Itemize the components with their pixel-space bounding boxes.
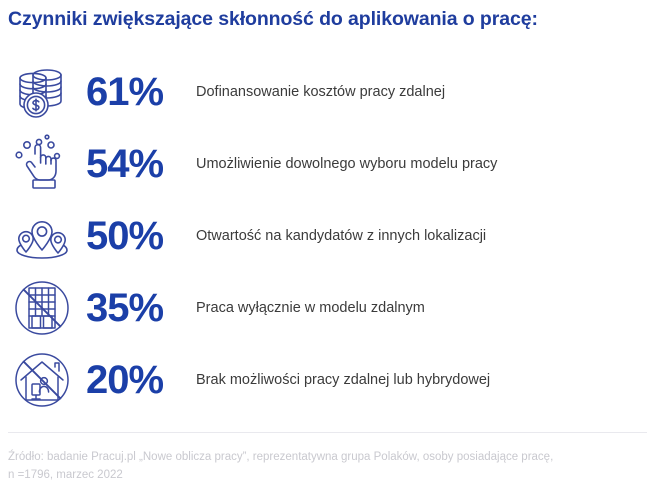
infographic-root: Czynniki zwiększające skłonność do aplik… xyxy=(0,0,655,499)
no-home-office-icon xyxy=(0,344,84,416)
source-line-2: n =1796, marzec 2022 xyxy=(8,467,653,485)
factor-label: Dofinansowanie kosztów pracy zdalnej xyxy=(196,83,655,101)
list-item: 61% Dofinansowanie kosztów pracy zdalnej xyxy=(0,56,655,128)
percent-value: 50% xyxy=(84,216,196,256)
coins-stack-icon xyxy=(0,56,84,128)
percent-value: 20% xyxy=(84,360,196,400)
map-pins-icon xyxy=(0,200,84,272)
page-title: Czynniki zwiększające skłonność do aplik… xyxy=(8,8,648,31)
list-item: 54% Umożliwienie dowolnego wyboru modelu… xyxy=(0,128,655,200)
source-note: Źródło: badanie Pracuj.pl „Nowe oblicza … xyxy=(8,449,653,485)
factor-label: Praca wyłącznie w modelu zdalnym xyxy=(196,299,655,317)
list-item: 20% Brak możliwości pracy zdalnej lub hy… xyxy=(0,344,655,416)
percent-value: 54% xyxy=(84,144,196,184)
footer-divider xyxy=(8,432,647,433)
factor-label: Otwartość na kandydatów z innych lokaliz… xyxy=(196,227,655,245)
factors-list: 61% Dofinansowanie kosztów pracy zdalnej xyxy=(0,56,655,416)
factor-label: Umożliwienie dowolnego wyboru modelu pra… xyxy=(196,155,655,173)
source-line-1: Źródło: badanie Pracuj.pl „Nowe oblicza … xyxy=(8,451,553,463)
percent-value: 61% xyxy=(84,72,196,112)
list-item: 50% Otwartość na kandydatów z innych lok… xyxy=(0,200,655,272)
list-item: 35% Praca wyłącznie w modelu zdalnym xyxy=(0,272,655,344)
factor-label: Brak możliwości pracy zdalnej lub hybryd… xyxy=(196,371,655,389)
no-office-building-icon xyxy=(0,272,84,344)
percent-value: 35% xyxy=(84,288,196,328)
pointing-hand-icon xyxy=(0,128,84,200)
